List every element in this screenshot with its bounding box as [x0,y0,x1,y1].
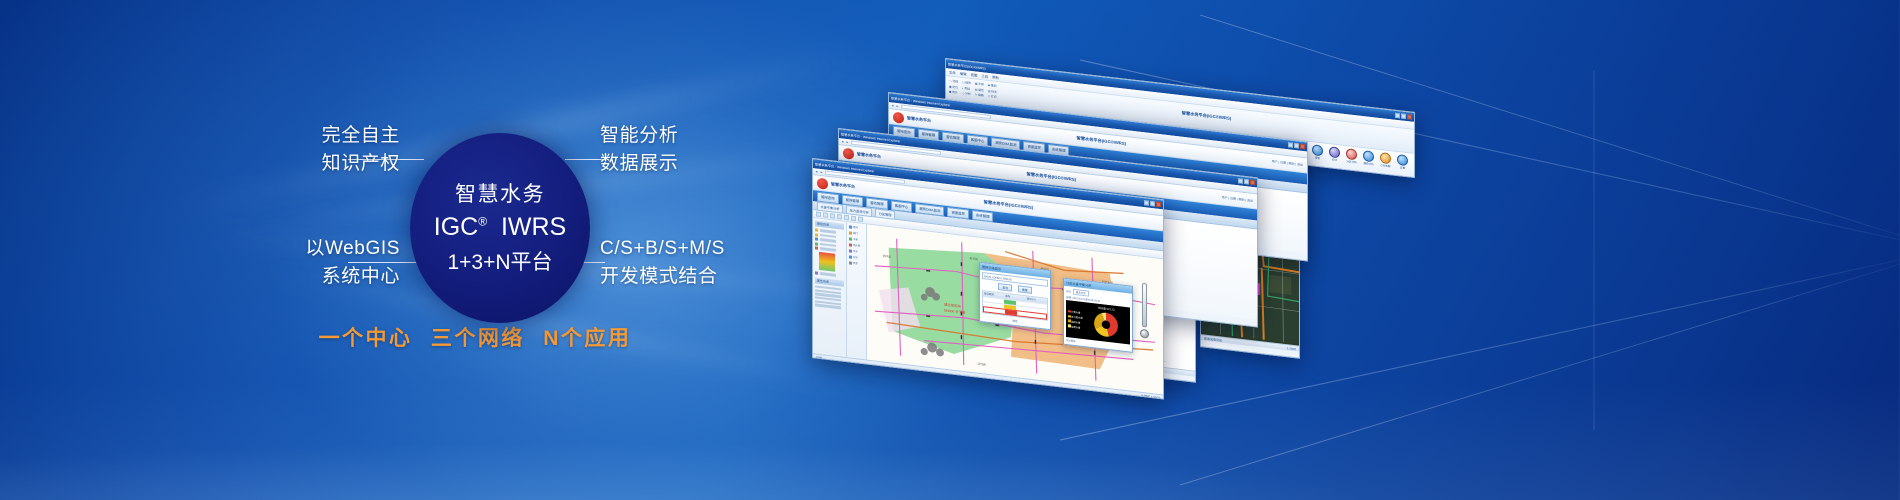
app-logo-icon [817,177,828,189]
identify-icon[interactable] [851,216,856,222]
ribbon-tab[interactable]: 视图 [971,72,978,78]
ribbon-tab[interactable]: 帮助 [992,74,999,80]
ribbon-tab[interactable]: 工具 [981,73,988,79]
dialog-query-button[interactable]: 查询 [998,283,1012,292]
minimize-icon [1144,200,1149,206]
valve-icon [849,231,852,234]
tool-row[interactable]: 阀门 [849,230,864,236]
window-controls[interactable] [1144,200,1161,207]
status-right: 比例尺 1:5000 [1141,394,1160,400]
ribbon-icon-item[interactable]: GIS地图 [1380,152,1391,168]
feature-label-top-right: 智能分析 数据展示 [600,122,830,177]
app-logo-icon [893,111,904,123]
status-left: 就绪 [816,355,822,360]
feature-label-bottom-right: C/S+B/S+M/S 开发模式结合 [600,235,830,290]
node-icon [849,249,852,252]
dialog-water-balance[interactable]: 分区水量平衡分析 分区: 城北分区 日期: 2015-03-01至2015-03… [1063,278,1133,353]
pan-compass-icon[interactable] [1140,329,1149,339]
pie-legend: 计费水量 未计费水量 漏损水量 免费水量 [1068,310,1083,330]
zone-select-label: 分区: [1066,289,1072,294]
water-balance-pie [1092,309,1120,340]
maximize-icon [1244,179,1249,185]
hydrant-icon [849,243,852,246]
back-icon: ◄ [891,103,894,107]
maximize-icon [1401,113,1406,119]
tool-row[interactable]: 更多 [849,260,864,266]
zoom-slider[interactable] [1142,283,1147,328]
tool-row[interactable]: 查询 [849,224,864,230]
tool-row[interactable]: 节点 [849,248,864,254]
registered-icon: ® [478,214,487,228]
meter-icon [849,237,852,240]
hero-banner: 完全自主 知识产权 以WebGIS 系统中心 智能分析 数据展示 C/S+B/S… [0,0,1900,500]
user-links[interactable]: 用户 | 设置 | 帮助 | 退出 [1272,159,1303,167]
tagline-part3: N个应用 [543,327,631,350]
ribbon-icon-label: 打印 [1329,157,1340,162]
pipe-query-icon [849,225,852,228]
tool-row[interactable]: 分区 [849,254,864,260]
back-icon: ◄ [841,139,844,143]
date-label: 日期: [1066,296,1072,300]
feature-label-line1: 智能分析 [600,122,830,150]
tool-row[interactable]: 水表 [849,236,864,242]
center-title-en-main: IGC [434,213,478,241]
map-navigation-control[interactable] [1139,283,1149,339]
center-circle-badge: 智慧水务 IGC® IWRS 1+3+N平台 [410,133,590,323]
zone-icon [849,255,852,258]
zoom-out-icon[interactable] [830,213,835,219]
ribbon-icon-item[interactable]: 漏损分析 [1363,150,1374,166]
forward-icon: ► [896,104,899,108]
tool-row[interactable]: 消火栓 [849,242,864,248]
tagline-part2: 三个网络 [431,327,525,350]
ribbon-tab[interactable]: 编辑 [960,71,967,77]
ribbon-icon-label: 设置 [1397,165,1408,170]
dialog-body: DN25 / DN50 / DN100 查询 重置 管径级别 颜色 [980,270,1050,329]
center-platform-label: 1+3+N平台 [447,252,552,273]
brand-name: 智慧水务平台 [857,151,881,160]
zoom-in-icon[interactable] [823,212,828,218]
tagline-part1: 一个中心 [319,327,413,350]
select-icon[interactable] [837,214,842,220]
ribbon-icon-item[interactable]: 设置 [1397,154,1408,170]
map-tools-column[interactable]: 查询 阀门 水表 消火栓 节点 分区 更多 [847,222,867,359]
pie-container: 供水量 522.23 [1085,304,1128,342]
brand-name: 智慧水务平台 [907,115,931,124]
feature-label-line1: 完全自主 [180,122,400,150]
print-icon[interactable] [858,216,863,222]
ribbon-icon-label: 漏损分析 [1363,161,1374,166]
connector-top-right [565,159,605,160]
screenshot-stack: 智慧水务平台(IGC®IWRS) 文件 编辑 视图 工具 帮助 — 选择◻ 缩放… [790,0,1900,500]
close-icon [1156,202,1161,208]
feature-label-line1: 以WebGIS [180,235,400,263]
brand-name: 智慧水务平台 [831,181,855,190]
dialog-body: 分区: 城北分区 日期: 2015-03-01至2015-03-31 计费水 [1064,286,1132,352]
user-links[interactable]: 用户 | 设置 | 帮助 | 退出 [1222,195,1253,203]
pan-icon[interactable] [816,211,821,217]
ribbon-icon-item[interactable]: 报表 [1312,144,1323,160]
window-controls[interactable] [1395,113,1412,120]
center-title-en: IGC® IWRS [434,215,566,240]
legend-entry: 免费水量 [1068,324,1083,330]
close-icon [1407,114,1412,120]
more-icon [849,261,852,264]
feature-label-line2: 数据展示 [600,150,830,178]
center-title-cn: 智慧水务 [455,184,545,205]
ribbon-icon-label: 报表 [1312,155,1323,160]
maximize-icon [1150,201,1155,207]
ribbon-icon-label: 分区分析 [1346,159,1357,164]
feature-label-line1: C/S+B/S+M/S [600,235,830,263]
minimize-icon [1288,142,1293,148]
status-left: 影像加载完成 [1204,336,1222,342]
window-controls[interactable] [1238,178,1255,185]
feature-label-line2: 系统中心 [180,263,400,291]
close-icon [1250,180,1255,186]
layer-icon [815,228,818,231]
feature-label-line2: 知识产权 [180,150,400,178]
maximize-icon [1294,143,1299,149]
feature-label-bottom-left: 以WebGIS 系统中心 [180,235,400,290]
dialog-pipe-grading[interactable]: 管网分级显示 DN25 / DN50 / DN100 查询 重置 管径级别 [979,262,1051,330]
forward-icon: ► [846,140,849,144]
window-front[interactable]: 智慧水务平台 - Windows Internet Explorer ◄ ► 智… [812,158,1164,400]
ribbon-tab[interactable]: 文件 [949,69,956,75]
center-title-en-second: IWRS [501,213,566,241]
window-controls[interactable] [1288,142,1305,149]
ribbon-icon-item[interactable]: 分区分析 [1346,148,1357,164]
feature-label-line2: 开发模式结合 [600,263,830,291]
measure-icon[interactable] [844,215,849,221]
dialog-reset-button[interactable]: 重置 [1018,285,1032,294]
ribbon-icon-item[interactable]: 打印 [1329,146,1340,162]
status-right: 1:2000 [1287,346,1296,351]
app-logo-icon [843,147,854,159]
minimize-icon [1238,178,1243,184]
close-icon [1300,144,1305,150]
pie-chart-area: 计费水量 未计费水量 漏损水量 免费水量 供水量 522.23 [1066,300,1130,345]
ribbon-icon-label: GIS地图 [1380,163,1391,168]
feature-label-top-left: 完全自主 知识产权 [180,122,400,177]
minimize-icon [1395,113,1400,119]
